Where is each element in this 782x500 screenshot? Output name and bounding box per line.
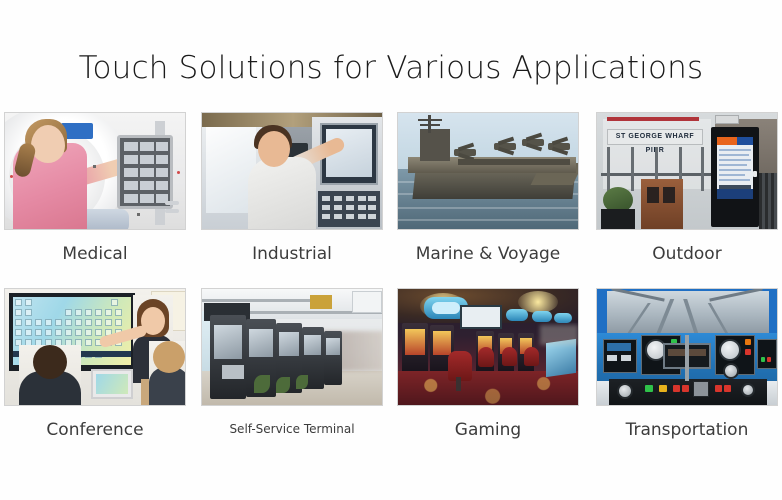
thumbnail-outdoor[interactable]: ST GEORGE WHARF PIER (596, 112, 778, 230)
card-label-transportation: Transportation (596, 420, 778, 440)
card-label-outdoor: Outdoor (596, 244, 778, 264)
thumbnail-industrial[interactable] (201, 112, 383, 230)
card-label-industrial: Industrial (201, 244, 383, 264)
card-label-marine-voyage: Marine & Voyage (397, 244, 579, 264)
card-industrial[interactable]: Industrial (201, 112, 383, 264)
card-transportation[interactable]: Transportation (596, 288, 778, 440)
card-self-service-terminal[interactable]: Self-Service Terminal (201, 288, 383, 436)
scene-transportation (597, 289, 777, 405)
card-outdoor[interactable]: ST GEORGE WHARF PIER (596, 112, 778, 264)
page-title: Touch Solutions for Various Applications (0, 50, 782, 86)
grid-row-1: Medical (0, 112, 782, 292)
thumbnail-transportation[interactable] (596, 288, 778, 406)
card-label-gaming: Gaming (397, 420, 579, 440)
scene-marine-voyage (398, 113, 578, 229)
card-gaming[interactable]: Gaming (397, 288, 579, 440)
card-label-self-service-terminal: Self-Service Terminal (201, 422, 383, 436)
thumbnail-self-service-terminal[interactable] (201, 288, 383, 406)
scene-gaming (398, 289, 578, 405)
card-medical[interactable]: Medical (4, 112, 186, 264)
scene-conference (5, 289, 185, 405)
scene-medical (5, 113, 185, 229)
thumbnail-conference[interactable] (4, 288, 186, 406)
card-label-medical: Medical (4, 244, 186, 264)
slide-root: Touch Solutions for Various Applications (0, 0, 782, 500)
card-conference[interactable]: Conference (4, 288, 186, 440)
grid-row-2: Conference (0, 288, 782, 468)
thumbnail-gaming[interactable] (397, 288, 579, 406)
thumbnail-marine-voyage[interactable] (397, 112, 579, 230)
card-label-conference: Conference (4, 420, 186, 440)
card-marine-voyage[interactable]: Marine & Voyage (397, 112, 579, 264)
thumbnail-medical[interactable] (4, 112, 186, 230)
scene-self-service-terminal (202, 289, 382, 405)
scene-industrial (202, 113, 382, 229)
pier-sign-text: ST GEORGE WHARF PIER (607, 129, 703, 145)
application-grid: Medical (0, 112, 782, 468)
scene-outdoor: ST GEORGE WHARF PIER (597, 113, 777, 229)
